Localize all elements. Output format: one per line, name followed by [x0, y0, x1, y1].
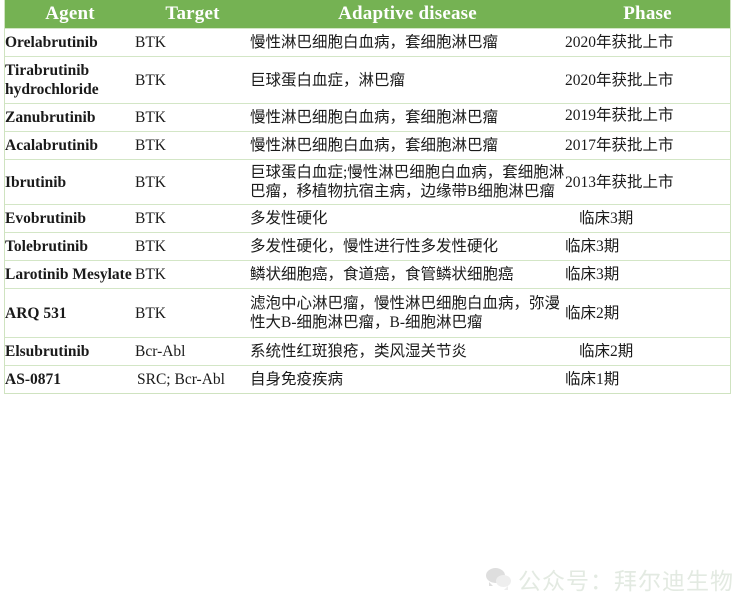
cell-target: BTK: [135, 233, 250, 261]
cell-disease: 多发性硬化: [250, 205, 565, 233]
table-row: Tolebrutinib BTK 多发性硬化，慢性进行性多发性硬化 临床3期: [5, 233, 730, 261]
column-header-agent: Agent: [5, 0, 135, 29]
column-header-target: Target: [135, 0, 250, 29]
cell-phase: 2019年获批上市: [565, 104, 730, 132]
cell-disease: 慢性淋巴细胞白血病，套细胞淋巴瘤: [250, 104, 565, 132]
cell-agent: Elsubrutinib: [5, 338, 135, 366]
table-row: Larotinib Mesylate BTK 鳞状细胞癌，食道癌，食管鳞状细胞癌…: [5, 261, 730, 289]
table-row: Ibrutinib BTK 巨球蛋白血症;慢性淋巴细胞白血病，套细胞淋巴瘤，移植…: [5, 160, 730, 205]
cell-agent: Larotinib Mesylate: [5, 261, 135, 289]
cell-phase: 2013年获批上市: [565, 160, 730, 205]
table-header-row: Agent Target Adaptive disease Phase: [5, 0, 730, 29]
cell-disease: 慢性淋巴细胞白血病，套细胞淋巴瘤: [250, 29, 565, 57]
cell-disease: 多发性硬化，慢性进行性多发性硬化: [250, 233, 565, 261]
cell-target: BTK: [135, 57, 250, 104]
table-row: Orelabrutinib BTK 慢性淋巴细胞白血病，套细胞淋巴瘤 2020年…: [5, 29, 730, 57]
table-body: Orelabrutinib BTK 慢性淋巴细胞白血病，套细胞淋巴瘤 2020年…: [5, 29, 730, 394]
cell-disease: 滤泡中心淋巴瘤，慢性淋巴细胞白血病，弥漫性大B-细胞淋巴瘤，B-细胞淋巴瘤: [250, 289, 565, 338]
cell-disease: 巨球蛋白血症，淋巴瘤: [250, 57, 565, 104]
table-row: Acalabrutinib BTK 慢性淋巴细胞白血病，套细胞淋巴瘤 2017年…: [5, 132, 730, 160]
cell-agent: Orelabrutinib: [5, 29, 135, 57]
table-header: Agent Target Adaptive disease Phase: [5, 0, 730, 29]
cell-disease: 慢性淋巴细胞白血病，套细胞淋巴瘤: [250, 132, 565, 160]
drug-pipeline-table-container: Agent Target Adaptive disease Phase Orel…: [4, 0, 731, 394]
cell-agent: Zanubrutinib: [5, 104, 135, 132]
table-row: Zanubrutinib BTK 慢性淋巴细胞白血病，套细胞淋巴瘤 2019年获…: [5, 104, 730, 132]
watermark-text: 公众号：拜尔迪生物: [518, 562, 734, 596]
cell-agent: Acalabrutinib: [5, 132, 135, 160]
cell-target: BTK: [135, 289, 250, 338]
cell-target: BTK: [135, 160, 250, 205]
table-row: ARQ 531 BTK 滤泡中心淋巴瘤，慢性淋巴细胞白血病，弥漫性大B-细胞淋巴…: [5, 289, 730, 338]
cell-target: BTK: [135, 29, 250, 57]
cell-target: BTK: [135, 205, 250, 233]
cell-disease: 自身免疫疾病: [250, 366, 565, 394]
cell-phase: 临床2期: [565, 289, 730, 338]
table-row: Elsubrutinib Bcr-Abl 系统性红斑狼疮，类风湿关节炎 临床2期: [5, 338, 730, 366]
table-row: AS-0871 SRC; Bcr-Abl 自身免疫疾病 临床1期: [5, 366, 730, 394]
table-row: Evobrutinib BTK 多发性硬化 临床3期: [5, 205, 730, 233]
wechat-icon: [486, 568, 512, 590]
cell-target: BTK: [135, 261, 250, 289]
cell-phase: 临床2期: [565, 338, 730, 366]
drug-pipeline-table: Agent Target Adaptive disease Phase Orel…: [5, 0, 730, 393]
cell-disease: 巨球蛋白血症;慢性淋巴细胞白血病，套细胞淋巴瘤，移植物抗宿主病，边缘带B细胞淋巴…: [250, 160, 565, 205]
cell-phase: 2020年获批上市: [565, 29, 730, 57]
cell-phase: 2017年获批上市: [565, 132, 730, 160]
cell-disease: 鳞状细胞癌，食道癌，食管鳞状细胞癌: [250, 261, 565, 289]
cell-agent: AS-0871: [5, 366, 135, 394]
cell-target: BTK: [135, 104, 250, 132]
cell-agent: Tolebrutinib: [5, 233, 135, 261]
cell-agent: Evobrutinib: [5, 205, 135, 233]
cell-disease: 系统性红斑狼疮，类风湿关节炎: [250, 338, 565, 366]
cell-phase: 2020年获批上市: [565, 57, 730, 104]
table-row: Tirabrutinib hydrochloride BTK 巨球蛋白血症，淋巴…: [5, 57, 730, 104]
cell-phase: 临床3期: [565, 261, 730, 289]
cell-agent: ARQ 531: [5, 289, 135, 338]
cell-target: SRC; Bcr-Abl: [135, 366, 250, 394]
cell-phase: 临床3期: [565, 205, 730, 233]
cell-target: Bcr-Abl: [135, 338, 250, 366]
cell-agent: Ibrutinib: [5, 160, 135, 205]
column-header-adaptive-disease: Adaptive disease: [250, 0, 565, 29]
cell-target: BTK: [135, 132, 250, 160]
column-header-phase: Phase: [565, 0, 730, 29]
cell-agent: Tirabrutinib hydrochloride: [5, 57, 135, 104]
cell-phase: 临床1期: [565, 366, 730, 394]
cell-phase: 临床3期: [565, 233, 730, 261]
watermark: 公众号：拜尔迪生物: [486, 562, 734, 596]
